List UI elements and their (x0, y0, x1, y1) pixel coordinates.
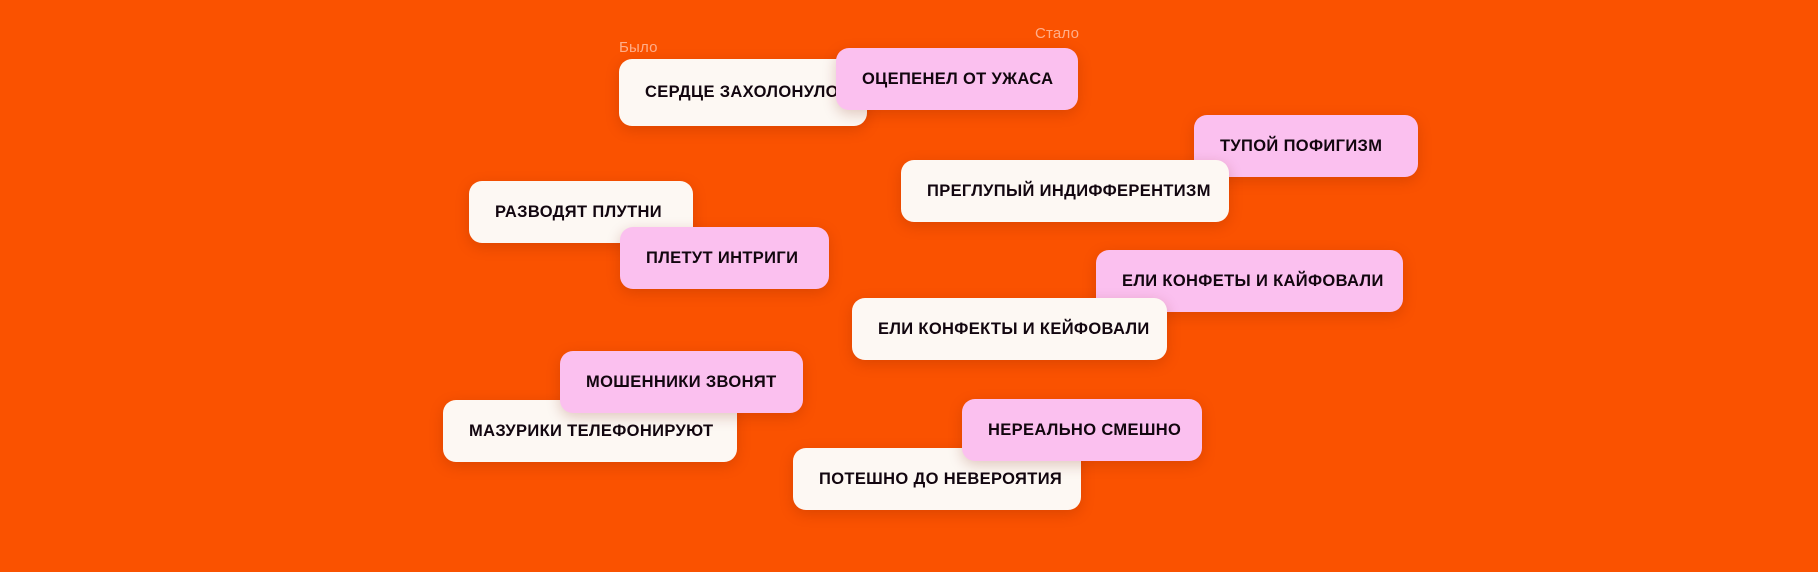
phrase-card-after: НЕРЕАЛЬНО СМЕШНО (962, 399, 1202, 461)
phrase-card-after: ПЛЕТУТ ИНТРИГИ (620, 227, 829, 289)
phrase-card-before: ЕЛИ КОНФЕКТЫ И КЕЙФОВАЛИ (852, 298, 1167, 360)
phrase-card-after: МОШЕННИКИ ЗВОНЯТ (560, 351, 803, 413)
phrase-card-before: СЕРДЦЕ ЗАХОЛОНУЛО (619, 59, 867, 126)
phrase-card-after: ОЦЕПЕНЕЛ ОТ УЖАСА (836, 48, 1078, 110)
phrase-card-before: ПРЕГЛУПЫЙ ИНДИФФЕРЕНТИЗМ (901, 160, 1229, 222)
column-label-before: Было (619, 40, 658, 55)
column-label-after: Стало (1035, 26, 1079, 41)
comparison-canvas: БылоСталоСЕРДЦЕ ЗАХОЛОНУЛООЦЕПЕНЕЛ ОТ УЖ… (0, 0, 1818, 572)
